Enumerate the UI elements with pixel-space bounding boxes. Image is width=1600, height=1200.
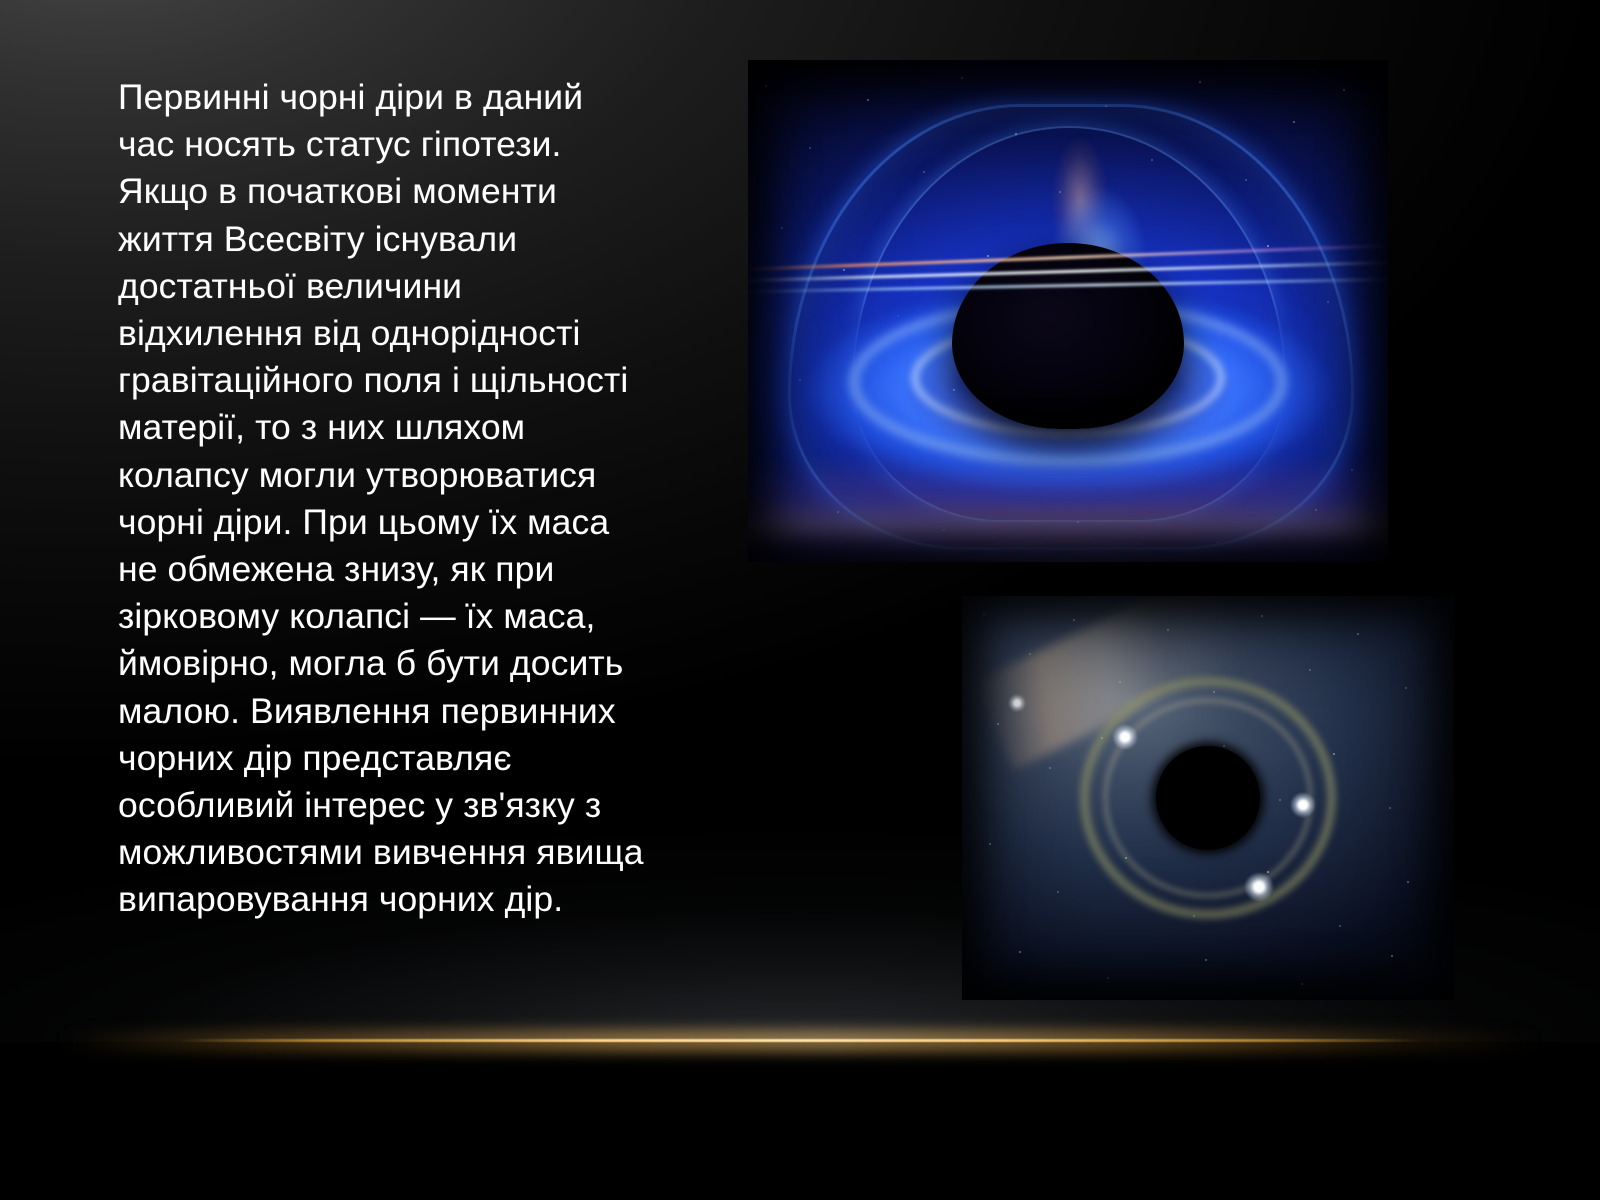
bright-star	[1290, 792, 1316, 818]
body-paragraph: Первинні чорні діри в даний час носять с…	[118, 74, 648, 924]
image-black-hole-blue[interactable]	[748, 60, 1388, 562]
polar-jet-spray	[1016, 98, 1176, 268]
bright-star	[1008, 694, 1026, 712]
bright-star	[1112, 724, 1138, 750]
purple-haze-band	[748, 458, 1388, 562]
background-floor	[0, 1042, 1600, 1200]
event-horizon-disc	[1156, 746, 1260, 850]
image-black-hole-lensing[interactable]	[962, 596, 1454, 1000]
slide-canvas: Первинні чорні діри в даний час носять с…	[0, 0, 1600, 1200]
bright-star	[1244, 872, 1274, 902]
